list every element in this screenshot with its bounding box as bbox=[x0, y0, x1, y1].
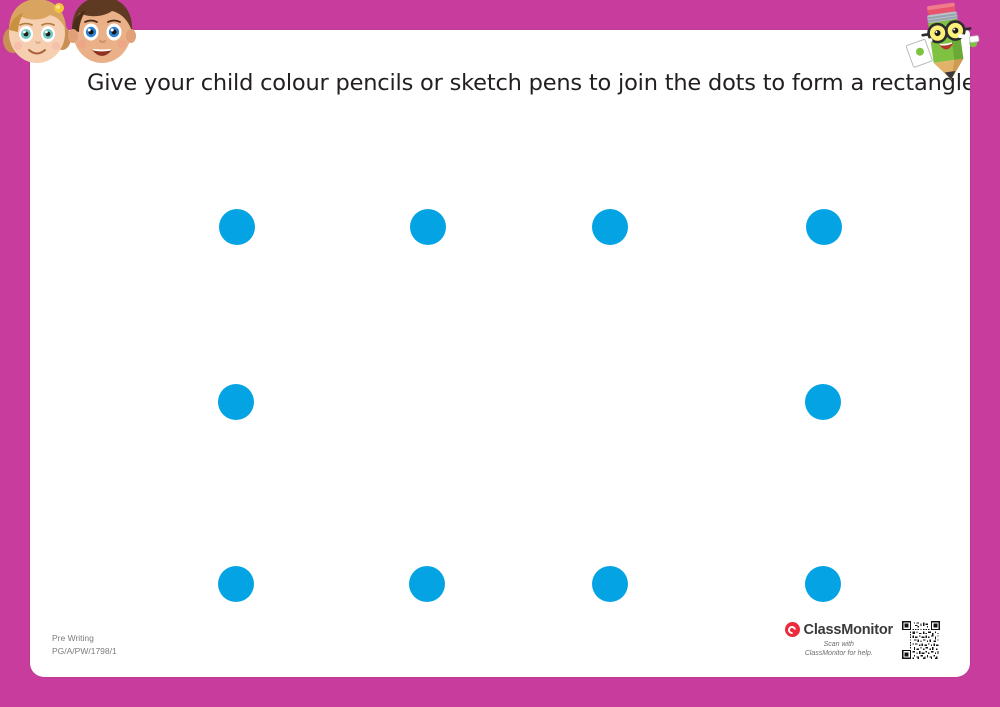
dot-8 bbox=[409, 566, 445, 602]
qr-code-icon bbox=[902, 621, 940, 659]
dot-4 bbox=[806, 209, 842, 245]
classmonitor-logo-icon bbox=[785, 622, 800, 637]
dot-7 bbox=[218, 566, 254, 602]
brand-tagline-line2: ClassMonitor for help. bbox=[805, 649, 873, 658]
brand-tagline-line1: Scan with bbox=[805, 640, 873, 649]
worksheet-card: Give your child colour pencils or sketch… bbox=[30, 30, 970, 677]
dot-9 bbox=[592, 566, 628, 602]
classmonitor-logo: ClassMonitor Scan with ClassMonitor for … bbox=[785, 622, 893, 658]
footer-code: PG/A/PW/1798/1 bbox=[52, 645, 117, 657]
brand-tagline: Scan with ClassMonitor for help. bbox=[805, 640, 873, 658]
page-title: Give your child colour pencils or sketch… bbox=[87, 70, 927, 97]
dot-6 bbox=[805, 384, 841, 420]
girl-face-icon bbox=[3, 0, 71, 63]
brand-block: ClassMonitor Scan with ClassMonitor for … bbox=[785, 621, 940, 659]
footer-meta: Pre Writing PG/A/PW/1798/1 bbox=[52, 632, 117, 657]
brand-row: ClassMonitor bbox=[785, 622, 893, 638]
dot-1 bbox=[219, 209, 255, 245]
dot-5 bbox=[218, 384, 254, 420]
footer-category: Pre Writing bbox=[52, 632, 117, 644]
worksheet-page: Give your child colour pencils or sketch… bbox=[0, 0, 1000, 707]
boy-face-icon bbox=[68, 0, 136, 63]
dot-3 bbox=[592, 209, 628, 245]
dot-2 bbox=[410, 209, 446, 245]
dot-10 bbox=[805, 566, 841, 602]
children-faces-illustration bbox=[0, 0, 140, 66]
pencil-character-illustration bbox=[906, 2, 986, 84]
brand-name: ClassMonitor bbox=[804, 622, 893, 638]
